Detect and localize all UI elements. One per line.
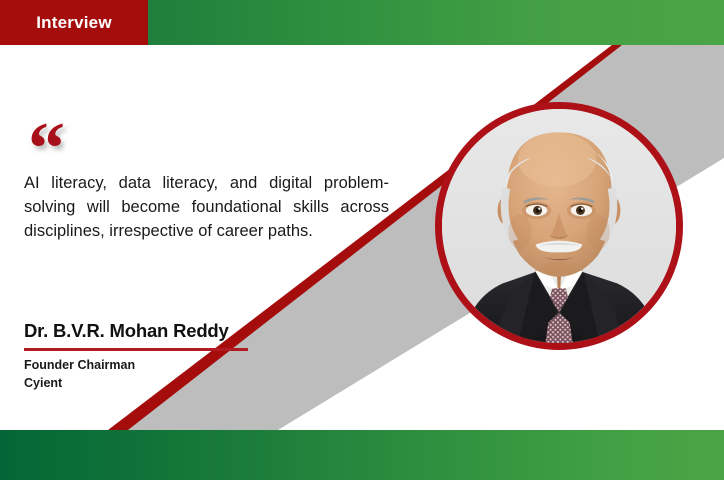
person-role-title: Founder Chairman [24, 357, 135, 375]
person-role-block: Founder Chairman Cyient [24, 357, 135, 393]
name-underline-rule [24, 348, 248, 351]
bottom-accent-bar [0, 430, 724, 480]
interview-tab-label: Interview [36, 14, 112, 31]
interview-tab[interactable]: Interview [0, 0, 148, 45]
interview-quote-card: Interview “ AI literacy, data literacy, … [0, 0, 724, 480]
person-name: Dr. B.V.R. Mohan Reddy [24, 320, 229, 342]
portrait-photo [442, 109, 676, 343]
person-organization: Cyient [24, 375, 135, 393]
portrait-circle [435, 102, 683, 350]
top-accent-bar: Interview [0, 0, 724, 45]
quote-text: AI literacy, data literacy, and digital … [24, 172, 389, 243]
